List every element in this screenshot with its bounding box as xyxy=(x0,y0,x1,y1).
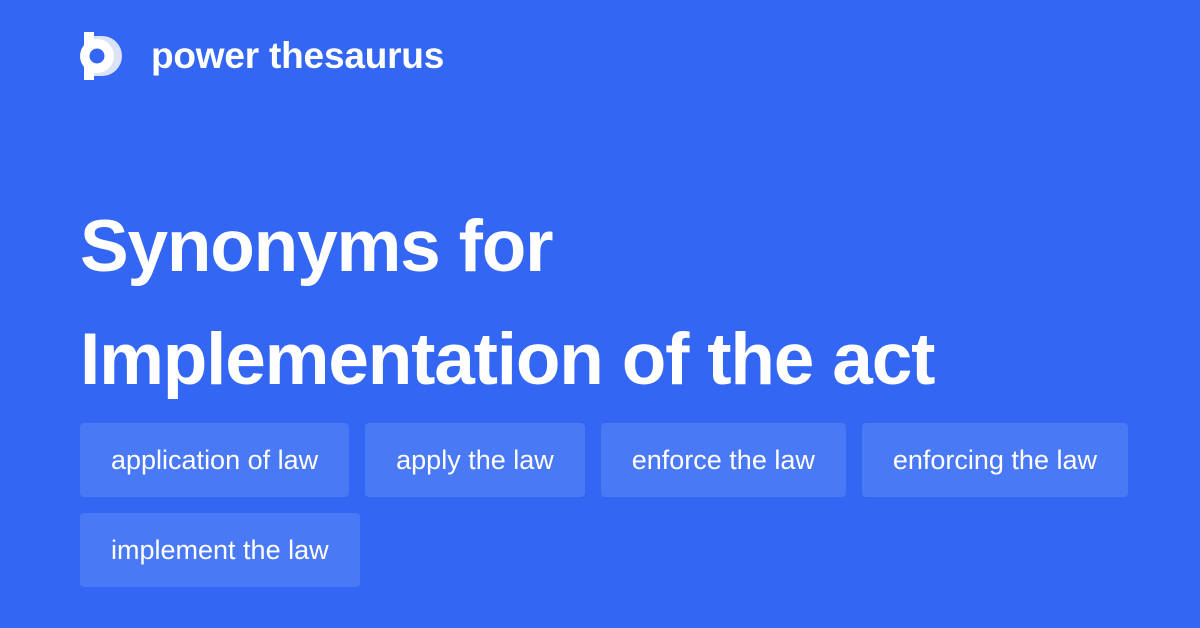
page-title: Synonyms for Implementation of the act xyxy=(80,190,1130,416)
share-card: power thesaurus Synonyms for Implementat… xyxy=(0,0,1200,628)
page-title-line-1: Synonyms for xyxy=(80,190,1130,303)
power-thesaurus-logo-icon xyxy=(80,32,124,80)
synonym-chip-list: application of law apply the law enforce… xyxy=(80,423,1140,587)
synonym-chip[interactable]: enforce the law xyxy=(601,423,846,497)
synonym-chip[interactable]: apply the law xyxy=(365,423,585,497)
synonym-chip[interactable]: application of law xyxy=(80,423,349,497)
brand-header[interactable]: power thesaurus xyxy=(80,28,444,84)
brand-name: power thesaurus xyxy=(151,34,444,78)
page-title-line-2: Implementation of the act xyxy=(80,303,1130,416)
synonym-chip[interactable]: enforcing the law xyxy=(862,423,1128,497)
synonym-chip[interactable]: implement the law xyxy=(80,513,360,587)
